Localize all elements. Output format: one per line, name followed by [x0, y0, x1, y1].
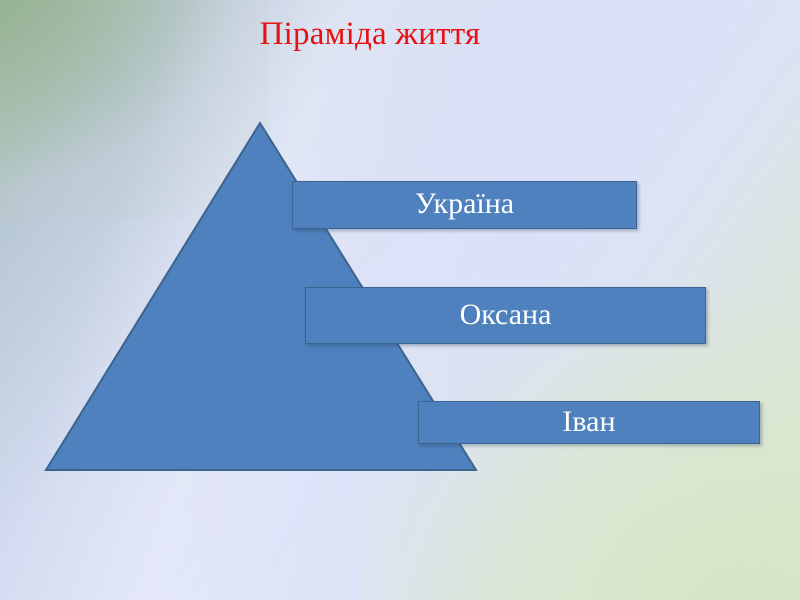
pyramid-bar-ukraina[interactable]: Україна — [292, 181, 637, 229]
slide-canvas: Піраміда життя Україна Оксана Іван — [0, 0, 800, 600]
pyramid-bar-ivan[interactable]: Іван — [418, 401, 760, 444]
pyramid-bar-label: Оксана — [460, 300, 552, 332]
pyramid-bar-label: Україна — [415, 189, 514, 221]
pyramid-bar-label: Іван — [562, 407, 615, 439]
pyramid-bar-oksana[interactable]: Оксана — [305, 287, 706, 344]
slide-title: Піраміда життя — [0, 14, 740, 54]
